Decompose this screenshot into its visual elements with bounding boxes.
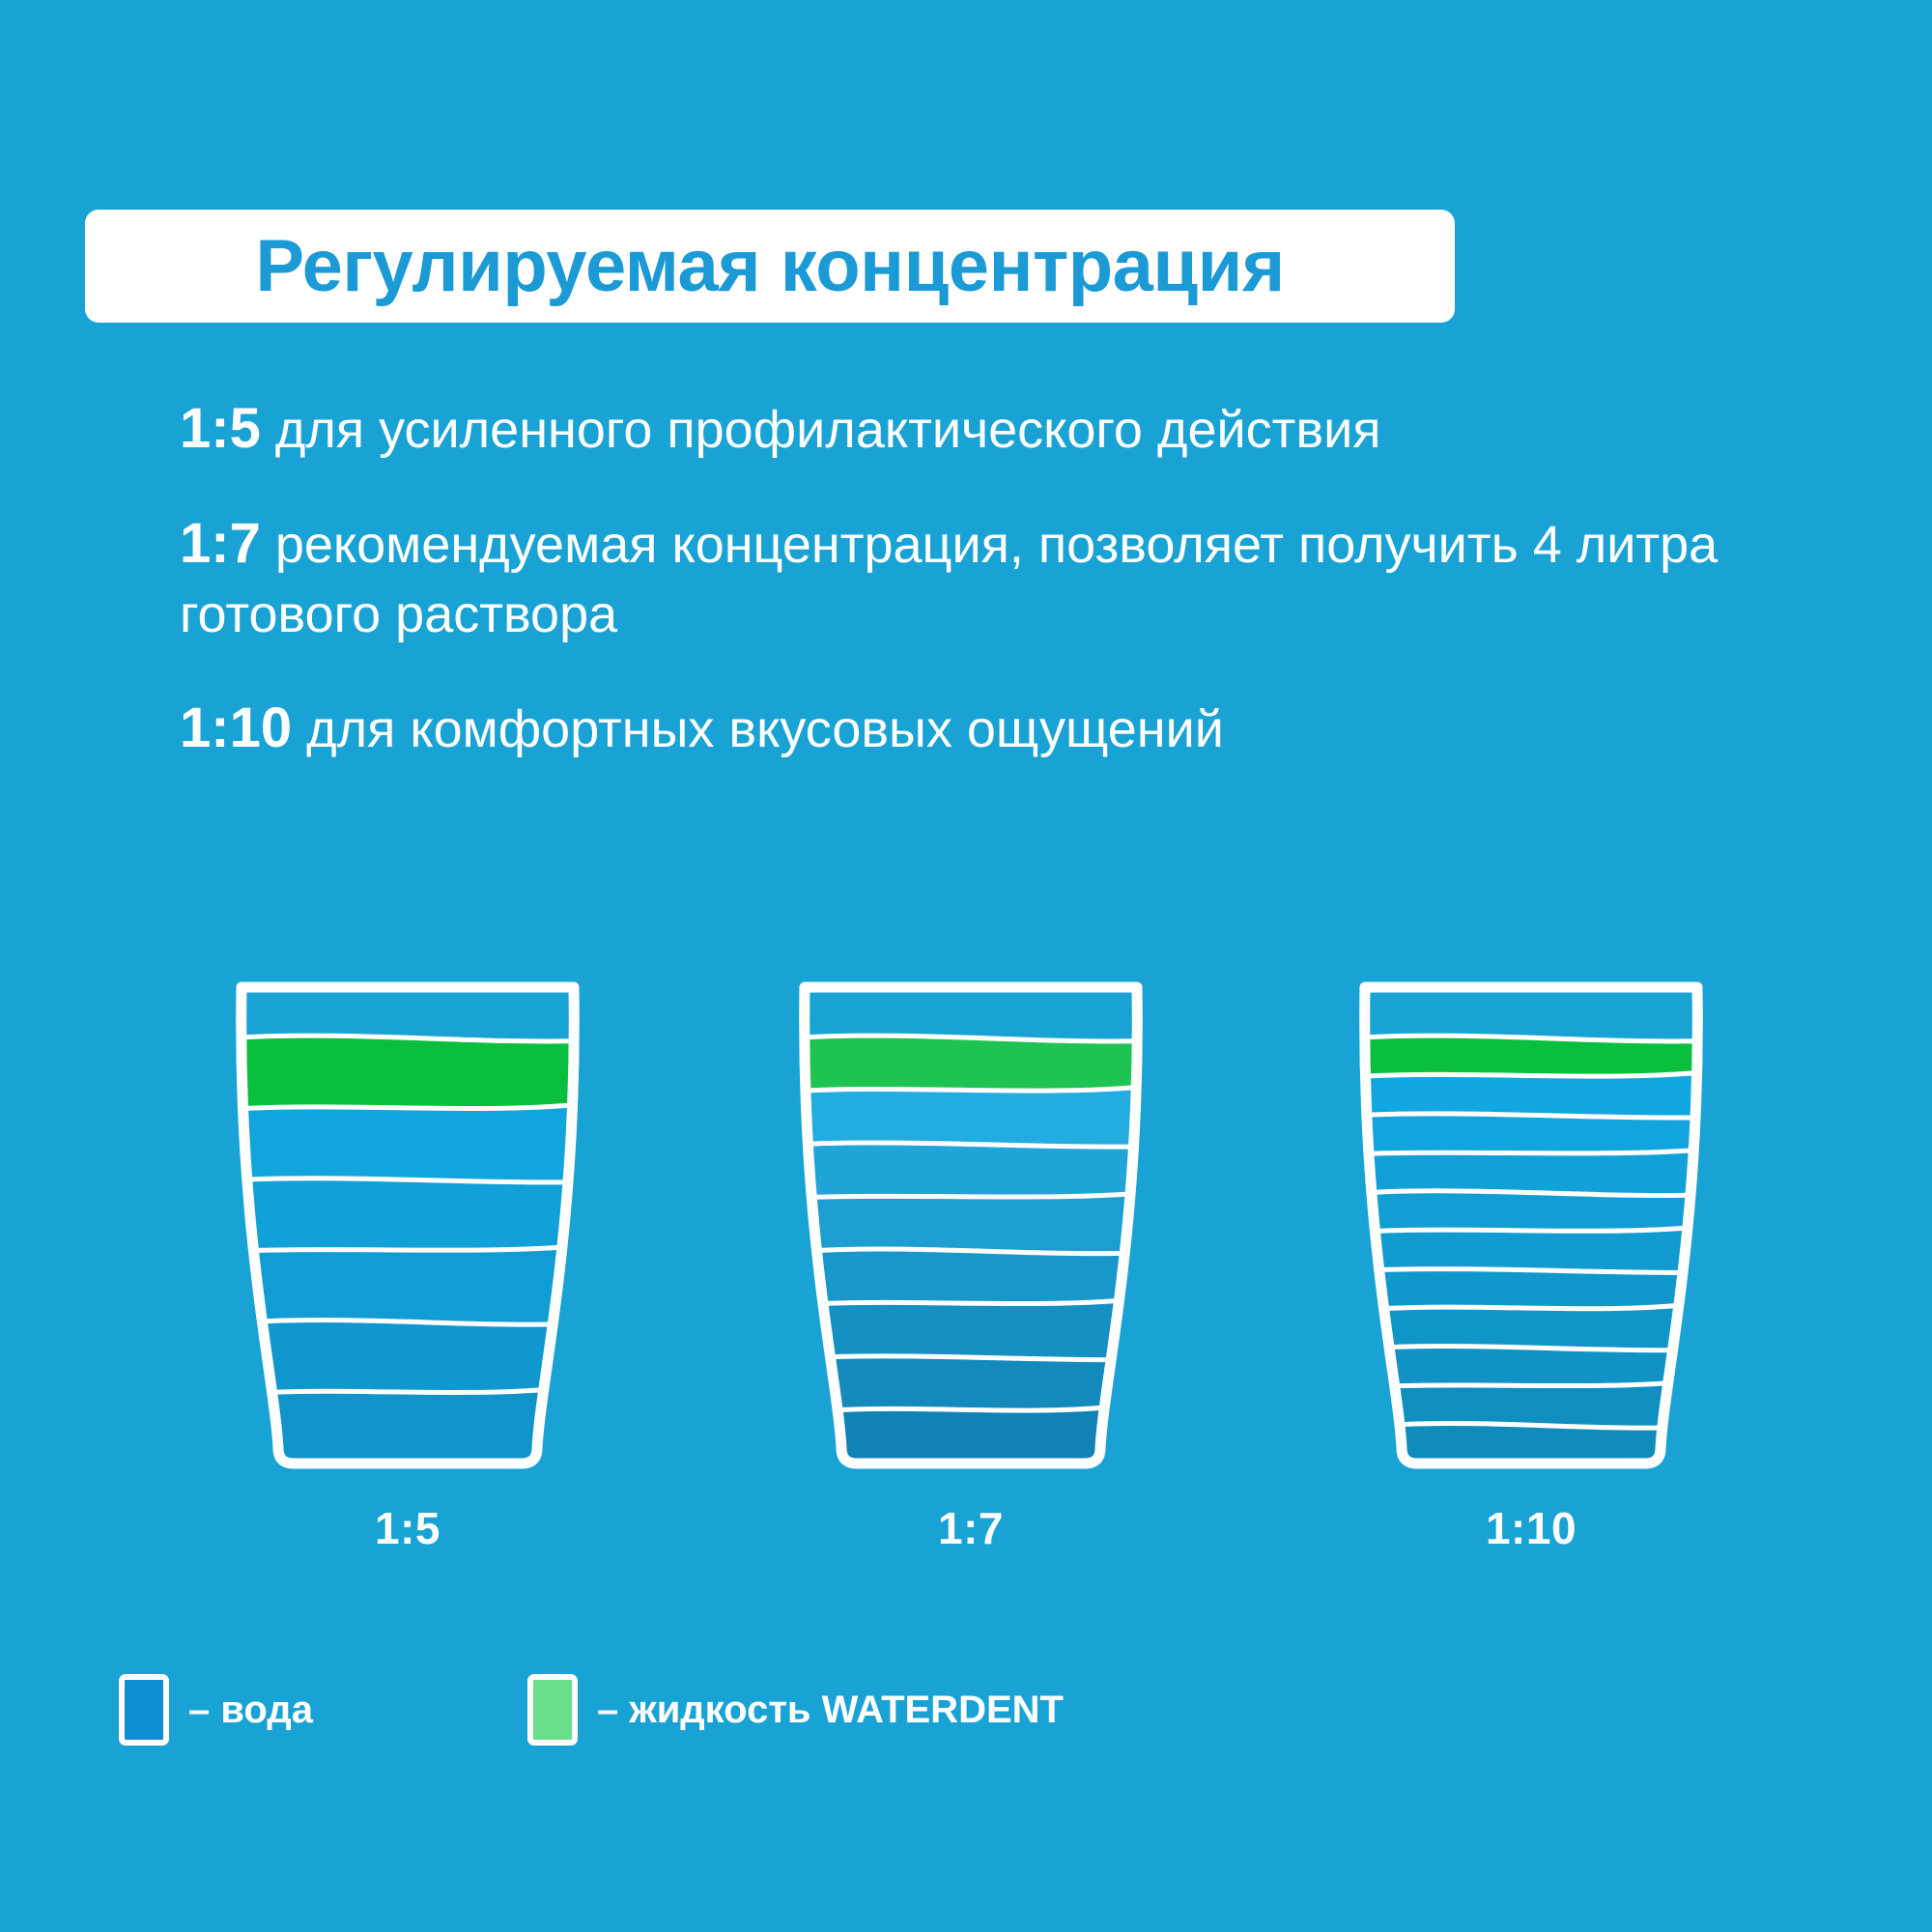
copy-text-1: для усиленного профилактического действи… <box>261 401 1381 459</box>
copy-line-3: 1:10 для комфортных вкусовых ощущений <box>180 691 1861 765</box>
page-title: Регулируемая концентрация <box>255 230 1284 303</box>
glass-1-10-illustration <box>1338 976 1724 1488</box>
glass-1-5: 1:5 <box>214 976 601 1613</box>
glass-1-7: 1:7 <box>778 976 1164 1613</box>
glass-1-7-label: 1:7 <box>778 1502 1164 1554</box>
infographic-canvas: Регулируемая концентрация 1:5 для усилен… <box>0 0 1932 1932</box>
copy-text-2: рекомендуемая концентрация, позволяет по… <box>180 516 1718 643</box>
glass-1-5-illustration <box>214 976 601 1488</box>
glass-diagram-row: 1:5 1:7 1:10 <box>0 976 1932 1613</box>
glass-1-7-illustration <box>778 976 1164 1488</box>
legend-item-liquid: – жидкость WATERDENT <box>527 1674 1064 1746</box>
glass-1-5-label: 1:5 <box>214 1502 601 1554</box>
glass-1-10: 1:10 <box>1338 976 1724 1613</box>
legend-label-water: – вода <box>188 1689 313 1732</box>
legend-label-liquid: – жидкость WATERDENT <box>597 1689 1064 1732</box>
copy-ratio-1: 1:5 <box>180 397 261 460</box>
glass-1-10-label: 1:10 <box>1338 1502 1724 1554</box>
copy-text-3: для комфортных вкусовых ощущений <box>292 700 1224 758</box>
water-swatch-icon <box>119 1674 169 1746</box>
copy-line-1: 1:5 для усиленного профилактического дей… <box>180 391 1861 466</box>
copy-line-2: 1:7 рекомендуемая концентрация, позволяе… <box>180 506 1861 650</box>
liquid-swatch-icon <box>527 1674 578 1746</box>
body-copy: 1:5 для усиленного профилактического дей… <box>180 391 1861 765</box>
legend-item-water: – вода <box>119 1674 313 1746</box>
legend: – вода – жидкость WATERDENT <box>119 1669 1064 1750</box>
copy-ratio-3: 1:10 <box>180 696 292 759</box>
page-title-box: Регулируемая концентрация <box>85 210 1455 323</box>
copy-ratio-2: 1:7 <box>180 512 261 575</box>
